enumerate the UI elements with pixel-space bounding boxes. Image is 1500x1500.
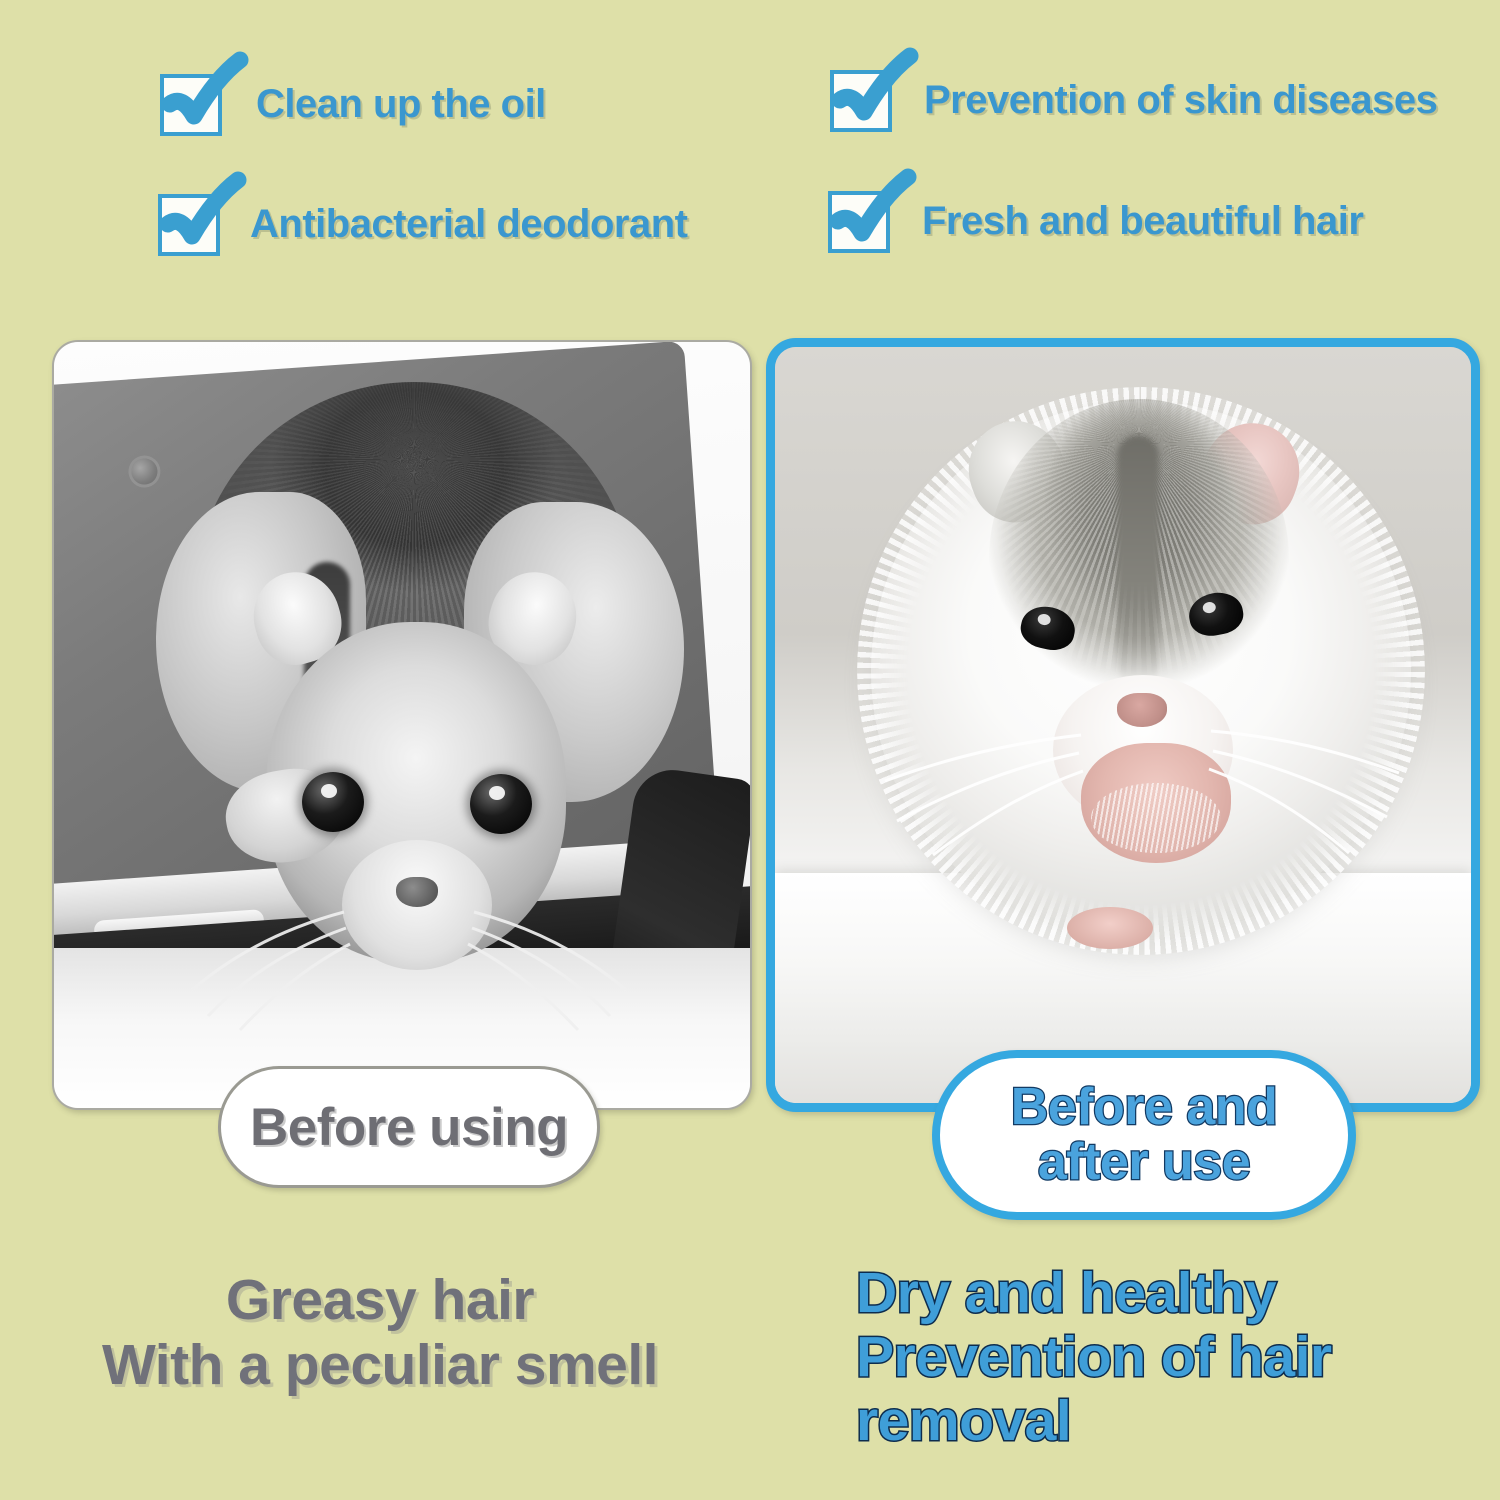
feature-item-prevention-of-skin-diseases: Prevention of skin diseases (830, 64, 1437, 136)
before-caption: Greasy hair With a peculiar smell (20, 1268, 740, 1398)
feature-item-clean-up-the-oil: Clean up the oil (160, 68, 546, 140)
feature-item-label: Fresh and beautiful hair (922, 199, 1363, 244)
after-caption: Dry and healthy Prevention of hair remov… (780, 1262, 1480, 1453)
before-and-after-use-badge-label: Before and after use (1011, 1080, 1278, 1190)
after-photo-panel (766, 338, 1480, 1112)
feature-checklist: Clean up the oil Antibacterial deodorant… (0, 0, 1500, 300)
feature-item-label: Antibacterial deodorant (250, 202, 687, 247)
feature-item-antibacterial-deodorant: Antibacterial deodorant (158, 188, 687, 260)
after-photo-hamster-clean (775, 347, 1471, 1103)
checkbox-checked-icon (828, 185, 900, 257)
feature-item-fresh-and-beautiful-hair: Fresh and beautiful hair (828, 185, 1363, 257)
checkbox-checked-icon (160, 68, 232, 140)
before-using-badge-label: Before using (250, 1097, 568, 1158)
checkbox-checked-icon (158, 188, 230, 260)
before-photo-panel (52, 340, 752, 1110)
feature-item-label: Clean up the oil (256, 82, 546, 127)
feature-item-label: Prevention of skin diseases (924, 78, 1437, 123)
checkbox-checked-icon (830, 64, 902, 136)
before-and-after-use-badge: Before and after use (932, 1050, 1356, 1220)
before-using-badge: Before using (218, 1066, 600, 1188)
before-photo-hamster-greasy (54, 342, 750, 1108)
